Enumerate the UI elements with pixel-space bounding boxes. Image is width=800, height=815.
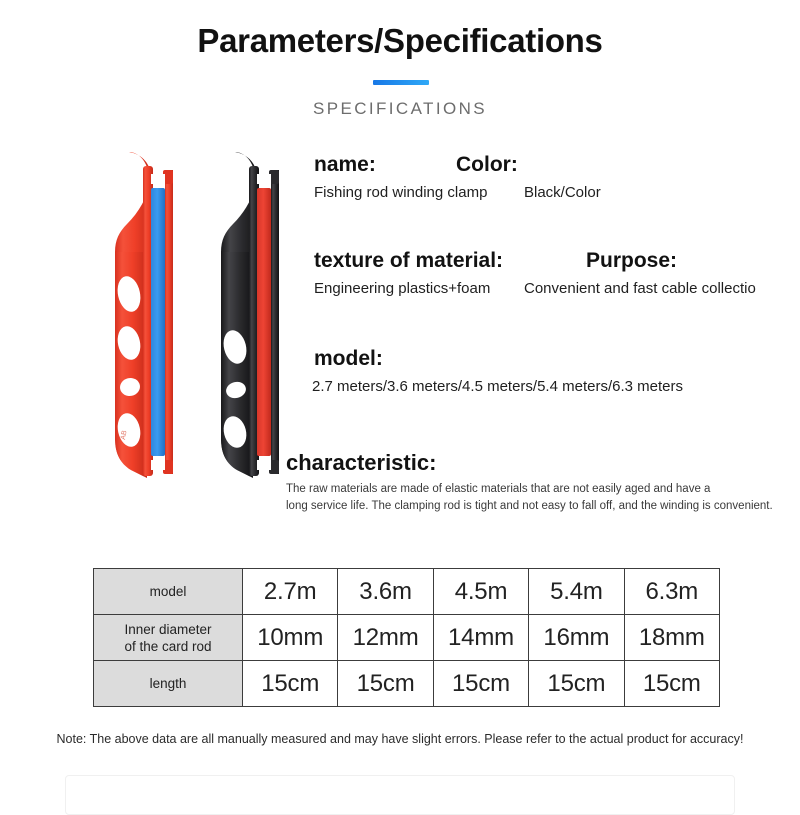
table-cell: 2.7m — [243, 569, 338, 615]
table-row-header-line1: Inner diameter — [96, 621, 240, 638]
spec-labels-row: texture of material: Purpose: — [312, 249, 800, 280]
spec-group-name: name: Color: Fishing rod winding clamp B… — [312, 153, 800, 210]
spec-value-name: Fishing rod winding clamp — [314, 184, 487, 201]
product-image-group: AB — [85, 140, 315, 490]
bottom-placeholder-box — [65, 775, 735, 815]
characteristic-block: characteristic: The raw materials are ma… — [286, 450, 786, 515]
spec-label-purpose: Purpose: — [586, 249, 677, 273]
table-row: Inner diameter of the card rod 10mm 12mm… — [94, 615, 720, 661]
spec-label-color: Color: — [456, 153, 518, 177]
table-cell: 5.4m — [529, 569, 624, 615]
accent-divider — [373, 80, 429, 85]
table-cell: 10mm — [243, 615, 338, 661]
spec-labels-row: model: — [312, 347, 800, 378]
table-row: length 15cm 15cm 15cm 15cm 15cm — [94, 661, 720, 707]
table-cell: 15cm — [338, 661, 433, 707]
spec-value-model: 2.7 meters/3.6 meters/4.5 meters/5.4 met… — [312, 378, 683, 395]
spec-labels-row: name: Color: — [312, 153, 800, 184]
characteristic-title: characteristic: — [286, 450, 786, 476]
table-row: model 2.7m 3.6m 4.5m 5.4m 6.3m — [94, 569, 720, 615]
table-cell: 15cm — [433, 661, 528, 707]
spec-values-row: Fishing rod winding clamp Black/Color — [312, 184, 800, 210]
spec-label-material: texture of material: — [314, 249, 503, 273]
table-row-header-line1: length — [150, 676, 187, 691]
characteristic-body: The raw materials are made of elastic ma… — [286, 481, 786, 515]
spec-group-material: texture of material: Purpose: Engineerin… — [312, 249, 800, 306]
spec-group-model: model: 2.7 meters/3.6 meters/4.5 meters/… — [312, 347, 800, 404]
table-row-header: Inner diameter of the card rod — [94, 615, 243, 661]
characteristic-line-1: The raw materials are made of elastic ma… — [286, 481, 786, 498]
table-cell: 4.5m — [433, 569, 528, 615]
table-cell: 15cm — [243, 661, 338, 707]
table-cell: 3.6m — [338, 569, 433, 615]
black-clamp-image — [220, 152, 279, 480]
table-row-header-line1: model — [150, 584, 187, 599]
table-cell: 16mm — [529, 615, 624, 661]
table-cell: 15cm — [529, 661, 624, 707]
table-cell: 12mm — [338, 615, 433, 661]
table-row-header-line2: of the card rod — [96, 638, 240, 655]
table-cell: 14mm — [433, 615, 528, 661]
spec-values-row: 2.7 meters/3.6 meters/4.5 meters/5.4 met… — [312, 378, 800, 404]
table-cell: 15cm — [624, 661, 719, 707]
page-subtitle: SPECIFICATIONS — [0, 99, 800, 119]
spec-value-material: Engineering plastics+foam — [314, 280, 490, 297]
table-cell: 18mm — [624, 615, 719, 661]
characteristic-line-2: long service life. The clamping rod is t… — [286, 498, 786, 515]
spec-value-color: Black/Color — [524, 184, 601, 201]
spec-label-model: model: — [314, 347, 383, 371]
table-row-header: length — [94, 661, 243, 707]
footer-note: Note: The above data are all manually me… — [0, 732, 800, 746]
specification-table: model 2.7m 3.6m 4.5m 5.4m 6.3m Inner dia… — [93, 568, 720, 707]
spec-value-purpose: Convenient and fast cable collectio — [524, 280, 756, 297]
spec-label-name: name: — [314, 153, 376, 177]
red-clamp-image: AB — [114, 152, 173, 480]
table-row-header: model — [94, 569, 243, 615]
table-cell: 6.3m — [624, 569, 719, 615]
page-title: Parameters/Specifications — [0, 22, 800, 60]
spec-values-row: Engineering plastics+foam Convenient and… — [312, 280, 800, 306]
